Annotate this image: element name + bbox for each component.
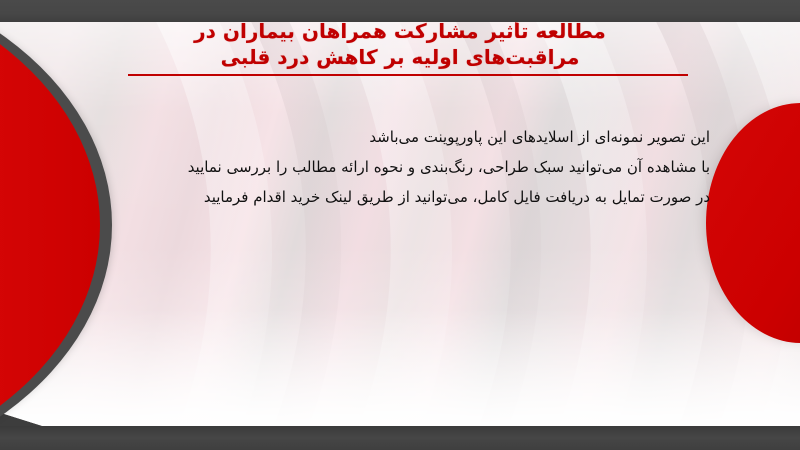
top-frame-band <box>0 0 800 22</box>
slide-body-text: این تصویر نمونه‌ای از اسلایدهای این پاور… <box>95 122 710 212</box>
title-underline-rule <box>128 74 688 76</box>
presentation-slide: مطالعه تأثیر مشارکت همراهان بیماران در م… <box>0 0 800 450</box>
slide-background-panel <box>0 21 800 429</box>
slide-title: مطالعه تأثیر مشارکت همراهان بیماران در م… <box>0 18 800 70</box>
body-text-line-2: با مشاهده آن می‌توانید سبک طراحی، رنگ‌بن… <box>95 152 710 182</box>
slide-title-line-2: مراقبت‌های اولیه بر کاهش درد قلبی <box>0 44 800 70</box>
background-swirl-graphic <box>0 21 800 429</box>
bottom-frame-band <box>0 426 800 450</box>
panel-gloss <box>0 309 800 429</box>
body-text-line-1: این تصویر نمونه‌ای از اسلایدهای این پاور… <box>95 122 710 152</box>
body-text-line-3: در صورت تمایل به دریافت فایل کامل، می‌تو… <box>95 182 710 212</box>
